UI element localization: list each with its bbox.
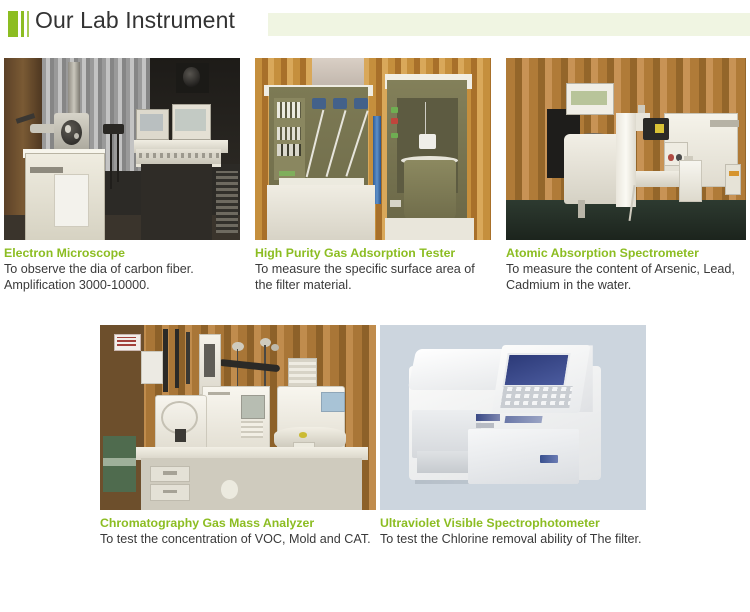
caption-ultraviolet-visible-spectrophotometer: Ultraviolet Visible Spectrophotometer To… bbox=[380, 516, 646, 547]
instrument-name: Chromatography Gas Mass Analyzer bbox=[100, 516, 376, 531]
instrument-name: Atomic Absorption Spectrometer bbox=[506, 246, 746, 261]
accent-bar-thick-icon bbox=[8, 11, 18, 37]
instrument-description: To test the concentration of VOC, Mold a… bbox=[100, 531, 376, 547]
header-accent-bars bbox=[8, 11, 29, 37]
caption-chromatography-gas-mass-analyzer: Chromatography Gas Mass Analyzer To test… bbox=[100, 516, 376, 547]
ultraviolet-visible-spectrophotometer-photo[interactable] bbox=[380, 325, 646, 510]
instrument-card-atomic-absorption-spectrometer[interactable]: Atomic Absorption Spectrometer To measur… bbox=[506, 58, 746, 293]
instrument-description: To measure the content of Arsenic, Lead,… bbox=[506, 261, 746, 293]
instrument-description: To test the Chlorine removal ability of … bbox=[380, 531, 646, 547]
gas-adsorption-tester-photo[interactable] bbox=[255, 58, 491, 240]
accent-bar-thin-icon bbox=[21, 11, 24, 37]
instrument-name: Electron Microscope bbox=[4, 246, 240, 261]
caption-electron-microscope: Electron Microscope To observe the dia o… bbox=[4, 246, 240, 293]
header-decorative-band bbox=[268, 13, 750, 36]
instrument-name: High Purity Gas Adsorption Tester bbox=[255, 246, 491, 261]
chromatography-gas-mass-analyzer-photo[interactable] bbox=[100, 325, 376, 510]
instrument-description: To measure the specific surface area of … bbox=[255, 261, 491, 293]
caption-atomic-absorption-spectrometer: Atomic Absorption Spectrometer To measur… bbox=[506, 246, 746, 293]
instrument-description: To observe the dia of carbon fiber. Ampl… bbox=[4, 261, 240, 293]
atomic-absorption-spectrometer-photo[interactable] bbox=[506, 58, 746, 240]
instrument-card-ultraviolet-visible-spectrophotometer[interactable]: Ultraviolet Visible Spectrophotometer To… bbox=[380, 325, 646, 547]
accent-bar-thin-light-icon bbox=[27, 11, 29, 37]
instrument-card-gas-adsorption-tester[interactable]: High Purity Gas Adsorption Tester To mea… bbox=[255, 58, 491, 293]
electron-microscope-photo[interactable] bbox=[4, 58, 240, 240]
caption-gas-adsorption-tester: High Purity Gas Adsorption Tester To mea… bbox=[255, 246, 491, 293]
instrument-card-chromatography-gas-mass-analyzer[interactable]: Chromatography Gas Mass Analyzer To test… bbox=[100, 325, 376, 547]
page-header: Our Lab Instrument bbox=[0, 0, 750, 50]
instrument-name: Ultraviolet Visible Spectrophotometer bbox=[380, 516, 646, 531]
instrument-card-electron-microscope[interactable]: Electron Microscope To observe the dia o… bbox=[4, 58, 240, 293]
page-title: Our Lab Instrument bbox=[35, 7, 235, 34]
